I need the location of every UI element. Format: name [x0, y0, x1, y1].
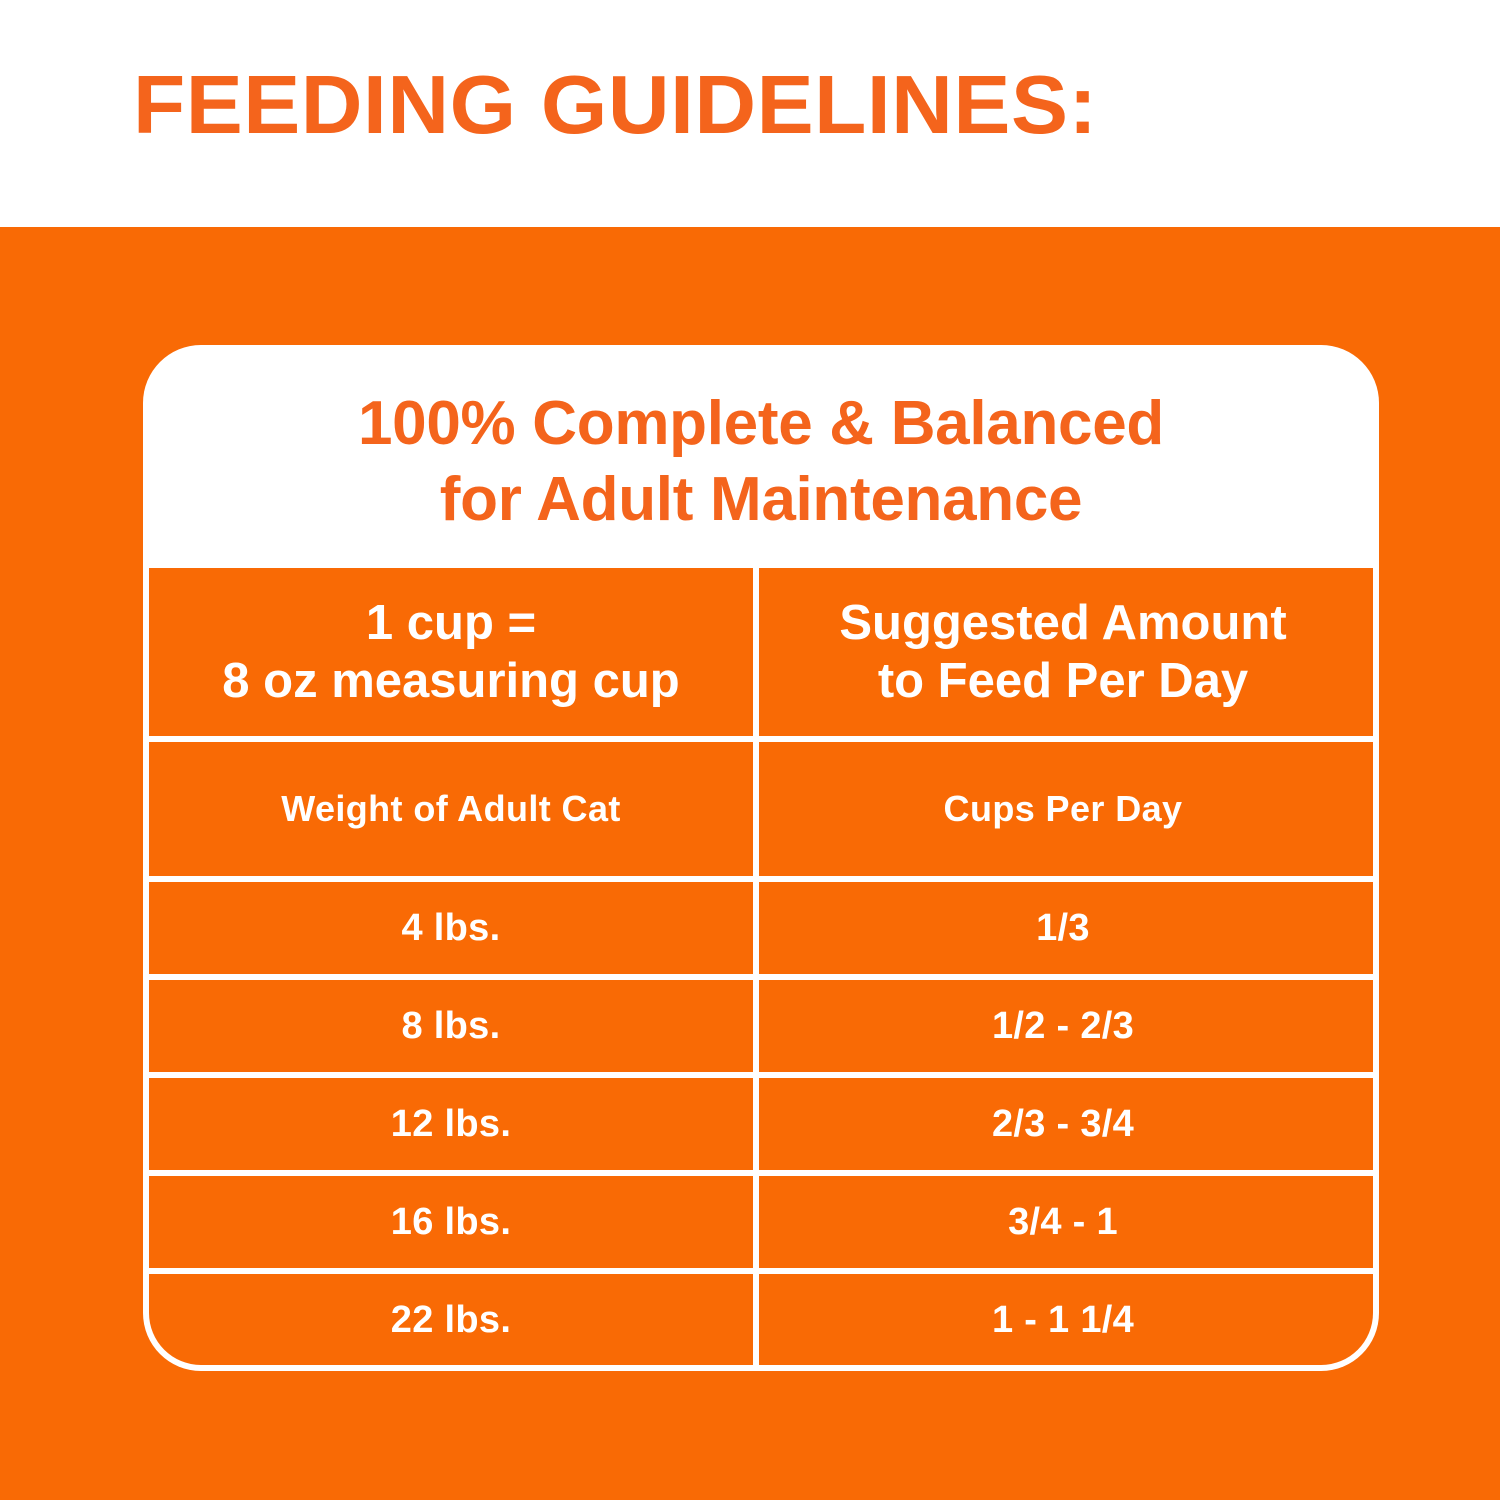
cell-cups: 3/4 - 1 — [753, 1176, 1373, 1268]
table-header-row: 1 cup = 8 oz measuring cup Suggested Amo… — [149, 568, 1373, 736]
cell-cups: 1 - 1 1/4 — [753, 1274, 1373, 1366]
column-label-weight: Weight of Adult Cat — [149, 742, 753, 876]
cell-cups: 2/3 - 3/4 — [753, 1078, 1373, 1170]
cell-weight: 16 lbs. — [149, 1176, 753, 1268]
column-label-cups: Cups Per Day — [753, 742, 1373, 876]
cell-weight: 8 lbs. — [149, 980, 753, 1072]
card-heading-line-2: for Adult Maintenance — [440, 462, 1082, 538]
card-heading-line-1: 100% Complete & Balanced — [358, 386, 1164, 462]
feeding-table: 1 cup = 8 oz measuring cup Suggested Amo… — [149, 568, 1373, 1365]
guidelines-card: 100% Complete & Balanced for Adult Maint… — [143, 345, 1379, 1371]
header-cell-cup-definition: 1 cup = 8 oz measuring cup — [149, 568, 753, 736]
feeding-guidelines-page: FEEDING GUIDELINES: 100% Complete & Bala… — [0, 0, 1500, 1500]
table-row: 4 lbs. 1/3 — [149, 882, 1373, 974]
card-heading: 100% Complete & Balanced for Adult Maint… — [143, 345, 1379, 568]
top-banner: FEEDING GUIDELINES: — [0, 0, 1500, 227]
cell-cups: 1/3 — [753, 882, 1373, 974]
header-cell-suggested-amount: Suggested Amount to Feed Per Day — [753, 568, 1373, 736]
table-column-label-row: Weight of Adult Cat Cups Per Day — [149, 742, 1373, 876]
cell-cups: 1/2 - 2/3 — [753, 980, 1373, 1072]
table-row: 22 lbs. 1 - 1 1/4 — [149, 1274, 1373, 1366]
page-title: FEEDING GUIDELINES: — [133, 58, 1097, 152]
table-row: 12 lbs. 2/3 - 3/4 — [149, 1078, 1373, 1170]
table-row: 16 lbs. 3/4 - 1 — [149, 1176, 1373, 1268]
cell-weight: 4 lbs. — [149, 882, 753, 974]
cell-weight: 12 lbs. — [149, 1078, 753, 1170]
cell-weight: 22 lbs. — [149, 1274, 753, 1366]
table-row: 8 lbs. 1/2 - 2/3 — [149, 980, 1373, 1072]
